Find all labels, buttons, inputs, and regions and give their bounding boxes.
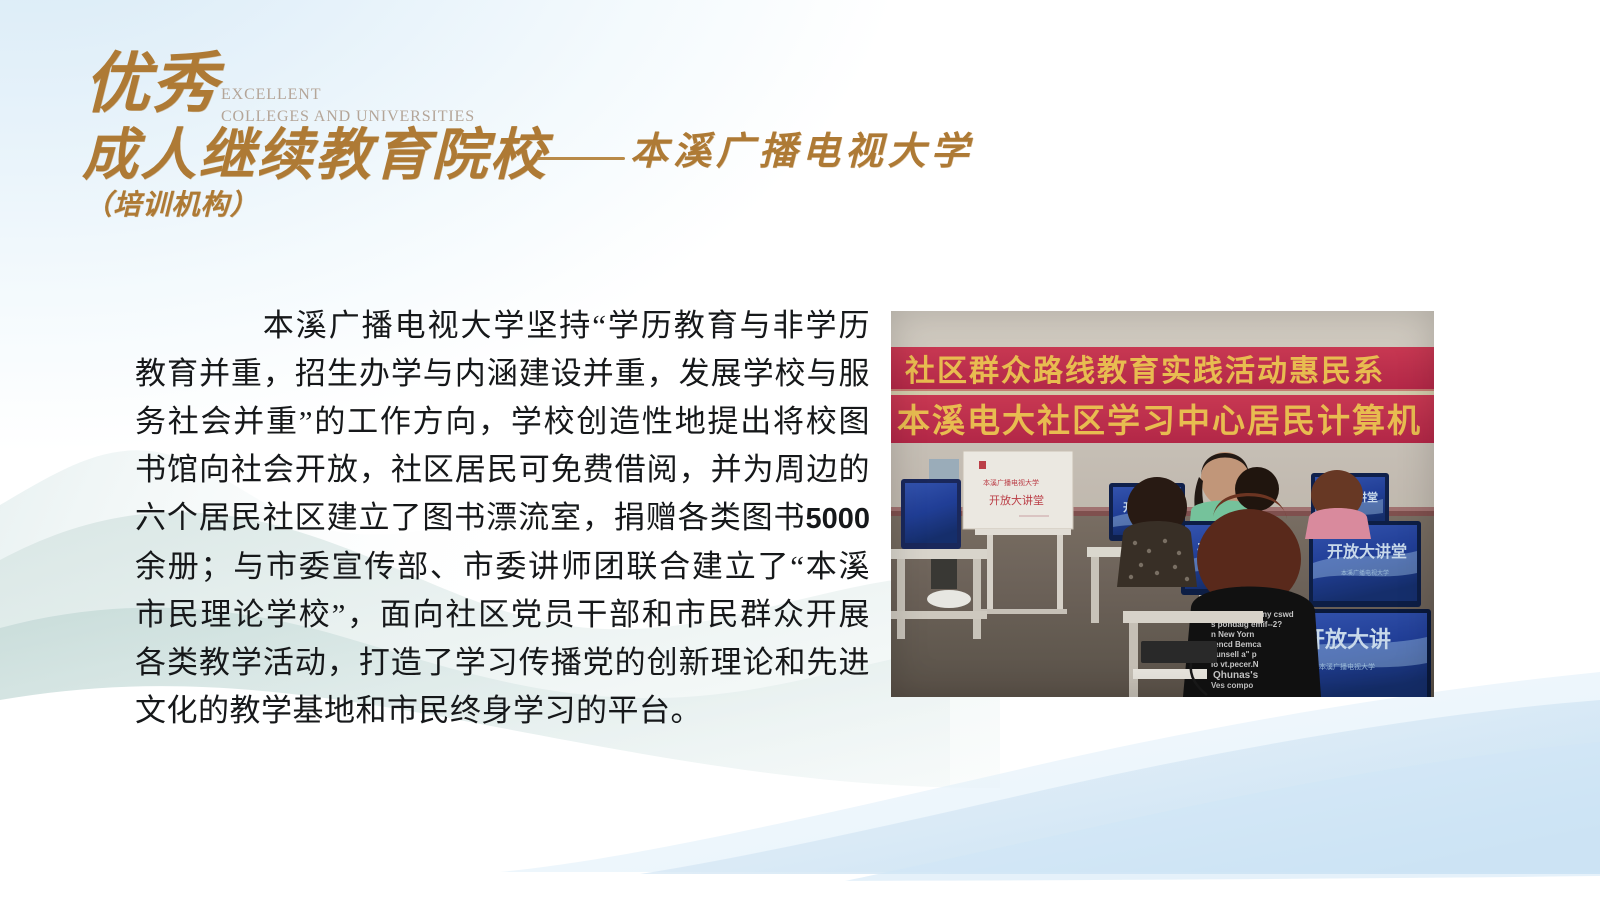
paragraph-highlight-number: 5000 bbox=[805, 503, 870, 535]
title-excellent-calligraphy: 优秀 bbox=[84, 52, 219, 118]
school-name: 本溪广播电视大学 bbox=[630, 133, 974, 171]
paragraph-text-part2: 余册；与市委宣传部、市委讲师团联合建立了“本溪市民理论学校”，面向社区党员干部和… bbox=[135, 549, 870, 728]
title-dash-divider bbox=[537, 157, 625, 160]
slide-root: 优秀 EXCELLENT COLLEGES AND UNIVERSITIES 成… bbox=[0, 0, 1600, 900]
page-title: 成人继续教育院校 bbox=[82, 128, 548, 184]
title-block: 优秀 EXCELLENT COLLEGES AND UNIVERSITIES 成… bbox=[0, 0, 1600, 250]
computer-classroom-photo: 社区群众路线教育实践活动惠民系 本溪电大社区学习中心居民计算机 本溪广播电视大学… bbox=[891, 311, 1434, 697]
body-paragraph: 本溪广播电视大学坚持“学历教育与非学历教育并重，招生办学与内涵建设并重，发展学校… bbox=[135, 302, 870, 735]
paragraph-text-part1: 本溪广播电视大学坚持“学历教育与非学历教育并重，招生办学与内涵建设并重，发展学校… bbox=[135, 308, 870, 535]
title-paren-note: （培训机构） bbox=[84, 192, 259, 220]
title-english-subtitle: EXCELLENT COLLEGES AND UNIVERSITIES bbox=[221, 84, 475, 127]
